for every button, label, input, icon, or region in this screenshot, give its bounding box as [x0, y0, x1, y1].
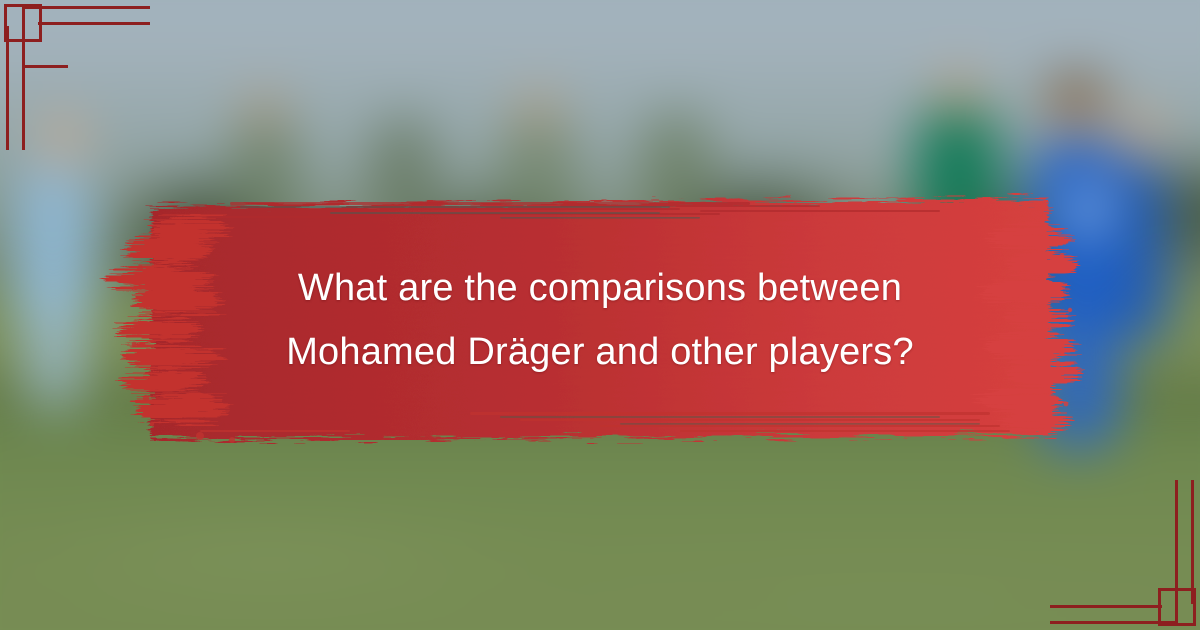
page-title: What are the comparisons between Mohamed…: [0, 196, 1200, 444]
headline-line-2: Mohamed Dräger and other players?: [286, 322, 914, 382]
ornament-line-vertical-inner: [22, 40, 25, 150]
ornament-line-horizontal-inner: [1050, 605, 1162, 608]
corner-ornament-top-left: [0, 0, 150, 150]
headline-line-1: What are the comparisons between: [298, 258, 902, 318]
ornament-line-horizontal-inner: [38, 22, 150, 25]
player-green-head: [938, 72, 980, 118]
player-blue-right-hair: [1048, 76, 1104, 110]
player-blue-right-second-head: [1116, 112, 1162, 162]
ornament-line-vertical-far: [6, 26, 9, 150]
background-figure-3-head: [518, 88, 558, 130]
ornament-line-vertical-inner: [1175, 480, 1178, 590]
background-figure-1-head: [245, 90, 283, 130]
ornament-line-horizontal-outer: [1050, 621, 1178, 624]
ornament-line-vertical-far: [1191, 480, 1194, 604]
ornament-line-horizontal-outer: [22, 6, 150, 9]
corner-ornament-bottom-right: [1050, 480, 1200, 630]
ornament-line-horizontal-stub: [22, 65, 68, 68]
grass-haze-layer: [0, 465, 1200, 630]
share-card: What are the comparisons between Mohamed…: [0, 0, 1200, 630]
